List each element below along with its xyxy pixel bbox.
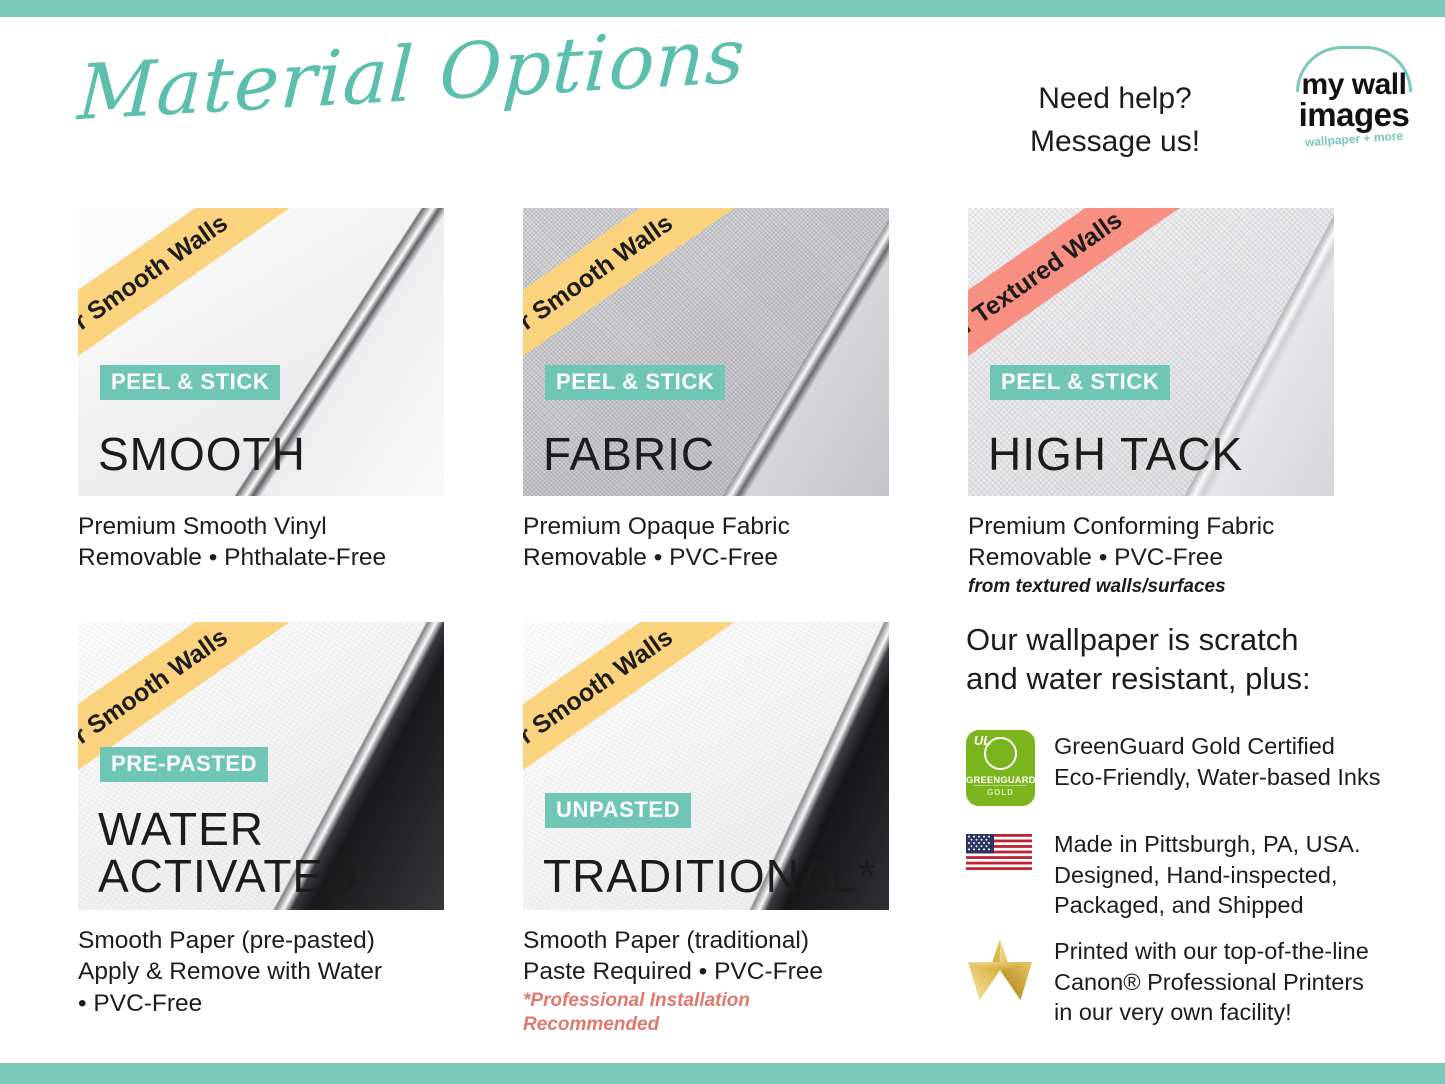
material-name-line-1: WATER [98, 806, 358, 853]
desc-line-1: Premium Conforming Fabric [968, 511, 1334, 542]
desc-line-2: Removable • PVC-Free [968, 542, 1334, 573]
promo-headline: Our wallpaper is scratch and water resis… [966, 620, 1376, 698]
greenguard-gold-badge-icon: UL GREENGUARD GOLD [966, 730, 1035, 806]
bottom-accent-bar [0, 1063, 1445, 1084]
material-card-water-activated[interactable]: for Smooth Walls PRE-PASTED WATER ACTIVA… [78, 622, 444, 1019]
material-swatch-photo: for Textured Walls PEEL & STICK HIGH TAC… [968, 208, 1334, 496]
greenguard-label: GREENGUARD [966, 774, 1035, 785]
promo-headline-line-1: Our wallpaper is scratch [966, 620, 1376, 659]
adhesive-type-badge: PRE-PASTED [100, 747, 268, 782]
logo-word-2: images [1284, 98, 1424, 131]
desc-line-1: Premium Smooth Vinyl [78, 511, 444, 542]
benefit-line-2: Canon® Professional Printers [1054, 967, 1369, 998]
benefit-text: Printed with our top-of-the-line Canon® … [1054, 935, 1369, 1028]
material-swatch-photo: for Smooth Walls PEEL & STICK FABRIC [523, 208, 889, 496]
material-description: Premium Smooth Vinyl Removable • Phthala… [78, 511, 444, 574]
benefit-line-1: Made in Pittsburgh, PA, USA. [1054, 829, 1361, 860]
material-card-traditional[interactable]: for Smooth Walls UNPASTED TRADITIONAL* S… [523, 622, 889, 1037]
material-name: FABRIC [543, 431, 715, 478]
desc-line-2: Apply & Remove with Water [78, 956, 444, 987]
material-footnote: *Professional Installation Recommended [523, 989, 889, 1038]
page-title: Material Options [76, 10, 748, 137]
material-name: TRADITIONAL* [543, 853, 877, 900]
desc-line-3: • PVC-Free [78, 988, 444, 1019]
material-swatch-photo: for Smooth Walls PRE-PASTED WATER ACTIVA… [78, 622, 444, 910]
benefit-canon-printers: Printed with our top-of-the-line Canon® … [966, 935, 1396, 1028]
material-footnote: from textured walls/surfaces [968, 575, 1334, 599]
adhesive-type-badge: PEEL & STICK [990, 365, 1170, 400]
gold-star-icon [966, 935, 1035, 1008]
material-name: WATER ACTIVATED [98, 806, 358, 900]
gold-star-svg [966, 937, 1034, 1003]
benefit-line-2: Eco-Friendly, Water-based Inks [1054, 762, 1381, 793]
adhesive-type-badge: PEEL & STICK [100, 365, 280, 400]
desc-line-1: Smooth Paper (pre-pasted) [78, 925, 444, 956]
benefit-text: Made in Pittsburgh, PA, USA. Designed, H… [1054, 828, 1361, 921]
desc-line-1: Premium Opaque Fabric [523, 511, 889, 542]
benefit-text: GreenGuard Gold Certified Eco-Friendly, … [1054, 730, 1381, 792]
material-card-fabric[interactable]: for Smooth Walls PEEL & STICK FABRIC Pre… [523, 208, 889, 574]
material-swatch-photo: for Smooth Walls UNPASTED TRADITIONAL* [523, 622, 889, 910]
brand-logo: my wall images wallpaper + more [1284, 44, 1424, 162]
adhesive-type-badge: PEEL & STICK [545, 365, 725, 400]
material-name-line-2: ACTIVATED [98, 853, 358, 900]
material-card-high-tack[interactable]: for Textured Walls PEEL & STICK HIGH TAC… [968, 208, 1334, 599]
help-line-2: Message us! [1020, 121, 1210, 164]
material-description: Smooth Paper (traditional) Paste Require… [523, 925, 889, 1037]
material-swatch-photo: for Smooth Walls PEEL & STICK SMOOTH [78, 208, 444, 496]
material-description: Smooth Paper (pre-pasted) Apply & Remove… [78, 925, 444, 1019]
benefit-line-1: GreenGuard Gold Certified [1054, 731, 1381, 762]
badge-divider [974, 785, 1027, 786]
material-name: SMOOTH [98, 431, 306, 478]
usa-flag-svg [966, 834, 1032, 870]
desc-line-2: Removable • Phthalate-Free [78, 542, 444, 573]
ul-label: UL [966, 734, 999, 747]
benefit-made-in-usa: Made in Pittsburgh, PA, USA. Designed, H… [966, 828, 1396, 921]
material-description: Premium Opaque Fabric Removable • PVC-Fr… [523, 511, 889, 574]
greenguard-tier-label: GOLD [966, 788, 1035, 797]
desc-line-1: Smooth Paper (traditional) [523, 925, 889, 956]
adhesive-type-badge: UNPASTED [545, 793, 691, 828]
usa-flag-icon [966, 828, 1035, 875]
material-description: Premium Conforming Fabric Removable • PV… [968, 511, 1334, 599]
help-prompt: Need help? Message us! [1020, 78, 1210, 163]
promo-headline-line-2: and water resistant, plus: [966, 659, 1376, 698]
desc-line-2: Paste Required • PVC-Free [523, 956, 889, 987]
desc-line-2: Removable • PVC-Free [523, 542, 889, 573]
help-line-1: Need help? [1020, 78, 1210, 121]
benefit-line-2: Designed, Hand-inspected, [1054, 860, 1361, 891]
benefit-line-3: in our very own facility! [1054, 997, 1369, 1028]
material-name: HIGH TACK [988, 431, 1243, 478]
benefit-greenguard: UL GREENGUARD GOLD GreenGuard Gold Certi… [966, 730, 1396, 806]
material-card-smooth[interactable]: for Smooth Walls PEEL & STICK SMOOTH Pre… [78, 208, 444, 574]
benefit-line-3: Packaged, and Shipped [1054, 890, 1361, 921]
benefit-line-1: Printed with our top-of-the-line [1054, 936, 1369, 967]
